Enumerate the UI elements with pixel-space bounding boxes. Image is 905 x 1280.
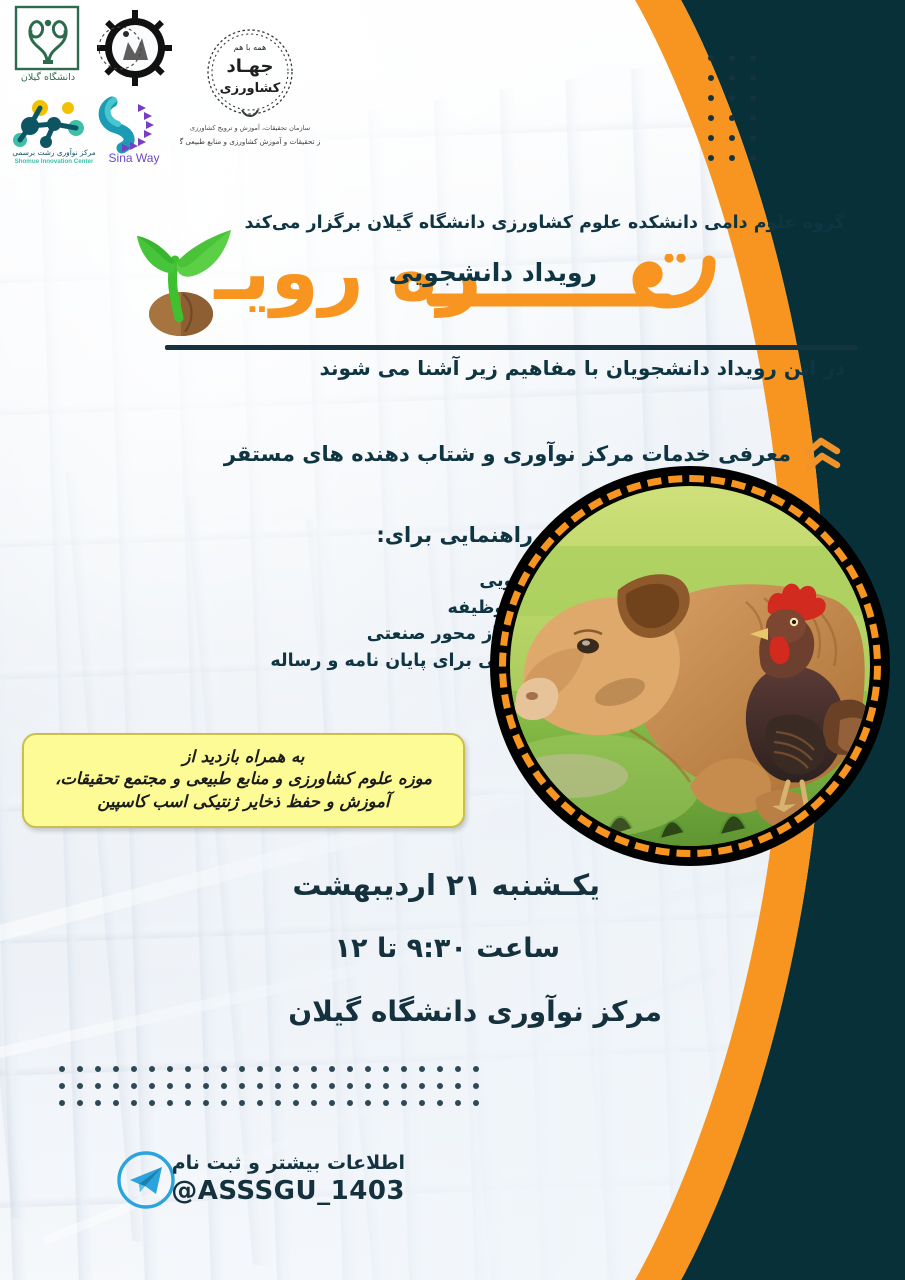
svg-text:Shomue Innovation Center: Shomue Innovation Center [15,158,94,165]
agricultural-research-gear-logo [92,8,172,90]
seedling-sprout-icon [135,222,247,340]
intro-line: در این رویداد دانشجویان با مفاهیم زیر آش… [145,356,845,380]
telegram-contact-block: اطلاعات بیشتر و ثبت نام @ASSSGU_1403 [171,1152,405,1206]
shomue-innovation-center-logo: مرکز نوآوری رشت برسمی Shomue Innovation … [6,96,102,166]
museum-visit-note-box: به همراه بازدید از موزه علوم کشاورزی و م… [22,733,465,828]
event-date: یکـشنبه ۲۱ اردیبهشت [292,868,600,902]
title-divider-rule [165,345,858,350]
svg-text:مرکز تحقیقات و آموزش کشاورزی و: مرکز تحقیقات و آموزش کشاورزی و منابع طبی… [180,136,320,146]
svg-text:سازمان تحقیقات، آموزش و ترویج: سازمان تحقیقات، آموزش و ترویج کشاورزی [190,123,310,132]
svg-text:مرکز نوآوری رشت برسمی: مرکز نوآوری رشت برسمی [12,147,95,157]
telegram-label: اطلاعات بیشتر و ثبت نام [171,1152,405,1174]
dot-band-decoration [47,1066,479,1117]
photo-image-content [510,486,870,846]
event-location: مرکز نوآوری دانشگاه گیلان [288,995,662,1028]
telegram-handle[interactable]: @ASSSGU_1403 [171,1176,405,1206]
note-line-3: آموزش و حفظ ذخایر ژنتیکی اسب کاسپین [97,791,389,813]
university-of-guilan-logo: دانشگاه گیلان [10,4,86,88]
event-time: ساعت ۹:۳۰ تا ۱۲ [335,933,560,964]
note-line-1: به همراه بازدید از [183,746,305,768]
event-poster: دانشگاه گیلان [0,0,905,1280]
svg-text:Sina Way: Sina Way [109,151,160,165]
dot-grid-decoration-top [693,55,756,175]
cow-and-rooster-photo [490,466,890,866]
event-title-subtitle: رویداد دانشجویی [389,258,597,287]
note-line-2: موزه علوم کشاورزی و منابع طبیعی و مجتمع … [55,768,432,790]
svg-text:جهـاد: جهـاد [226,56,273,77]
event-title-block: ره رویـ رویداد دانشجویی [127,240,867,350]
section-label-services: معرفی خدمات مرکز نوآوری و شتاب دهنده های… [224,442,791,466]
sponsor-logos-header: دانشگاه گیلان [0,0,340,172]
svg-text:دانشگاه گیلان: دانشگاه گیلان [21,71,75,83]
sina-way-logo: Sina Way [92,86,176,166]
svg-text:همه با هم: همه با هم [234,43,266,52]
telegram-icon[interactable] [116,1150,176,1210]
jahad-keshavarzi-logo: همه با هم جهـاد کشاورزی سازمان تحقیقات، … [180,22,320,154]
svg-text:کشاورزی: کشاورزی [220,81,281,96]
